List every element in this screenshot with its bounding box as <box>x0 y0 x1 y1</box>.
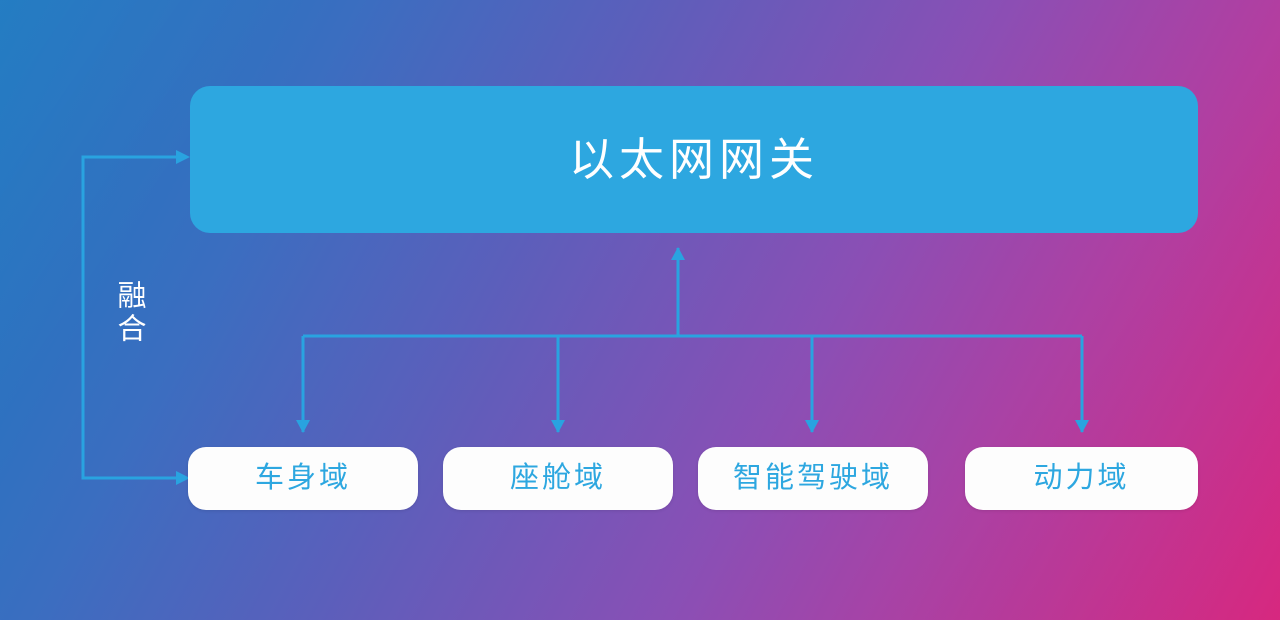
fusion-annotation-label: 融合 <box>105 268 147 358</box>
domain-label-power: 动力域 <box>1033 464 1129 493</box>
domain-box-cockpit[interactable]: 座舱域 <box>443 447 673 510</box>
domain-label-cockpit: 座舱域 <box>510 464 606 493</box>
domain-box-power[interactable]: 动力域 <box>965 447 1198 510</box>
domain-box-driving[interactable]: 智能驾驶域 <box>698 447 928 510</box>
domain-box-body[interactable]: 车身域 <box>188 447 418 510</box>
domain-label-driving: 智能驾驶域 <box>733 464 893 493</box>
gateway-label: 以太网网关 <box>569 137 819 182</box>
diagram-canvas: 以太网网关 融合 车身域 座舱域 智能驾驶域 动力域 <box>0 0 1280 620</box>
fusion-arrow-to-gateway <box>176 150 190 164</box>
domain-label-body: 车身域 <box>255 464 351 493</box>
gateway-box[interactable]: 以太网网关 <box>190 86 1198 233</box>
